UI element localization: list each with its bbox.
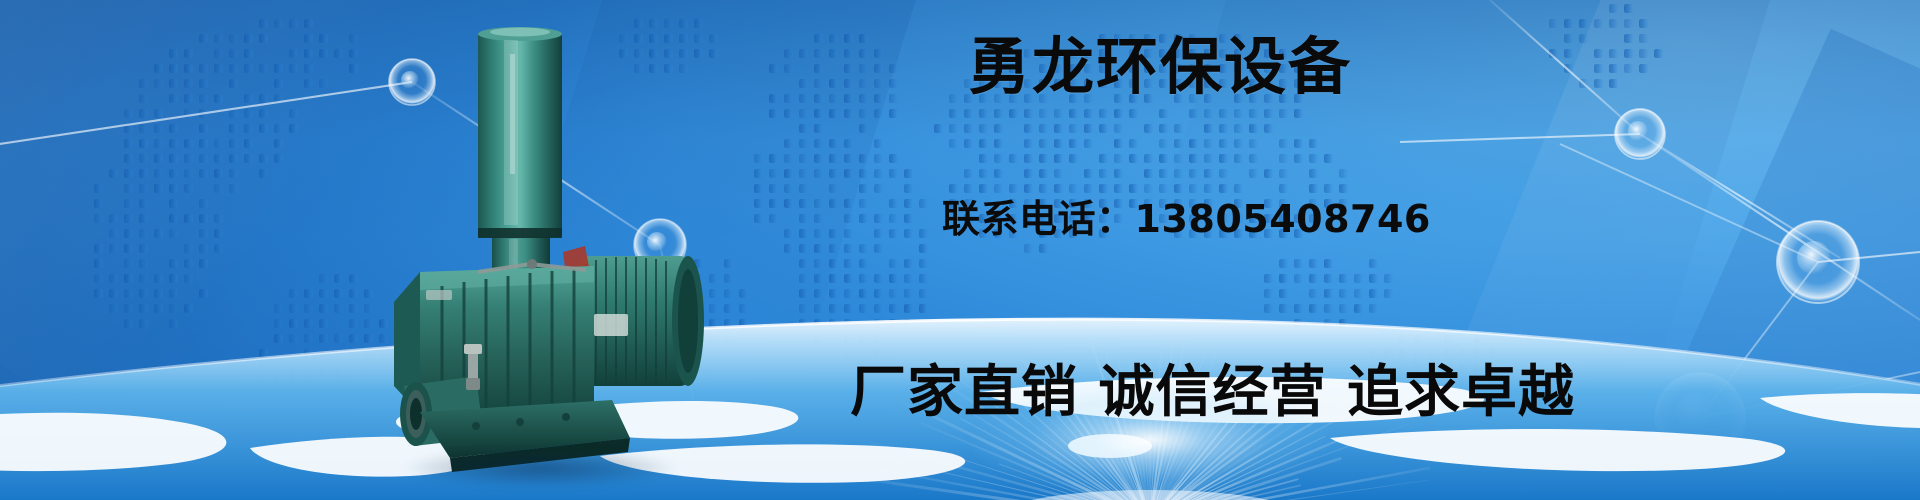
company-title: 勇龙环保设备 bbox=[968, 36, 1352, 98]
company-slogan: 厂家直销 诚信经营 追求卓越 bbox=[850, 365, 1575, 421]
contact-phone: 联系电话：13805408746 bbox=[942, 200, 1431, 238]
product-roots-blower bbox=[380, 14, 720, 484]
product-shadow bbox=[400, 448, 680, 488]
promo-banner: 勇龙环保设备 联系电话：13805408746 厂家直销 诚信经营 追求卓越 bbox=[0, 0, 1920, 500]
